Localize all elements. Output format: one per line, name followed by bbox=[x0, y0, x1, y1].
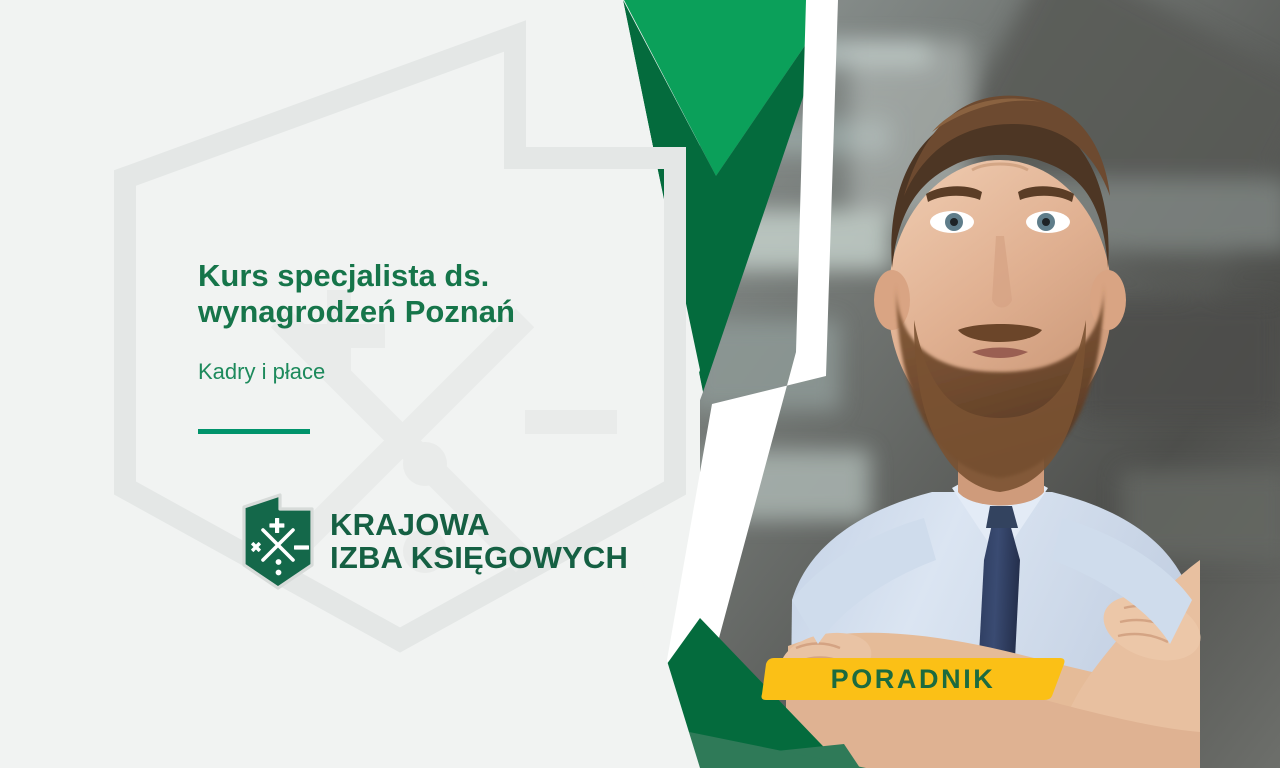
status-badge: PORADNIK bbox=[760, 654, 1066, 704]
logo-wordmark-display: KRAJOWA IZBA KSIĘGOWYCH bbox=[330, 509, 628, 573]
hero-photo bbox=[700, 0, 1280, 768]
page-title-display: Kurs specjalista ds. wynagrodzeń Poznań bbox=[198, 258, 628, 331]
logo-wordmark-line1-display: KRAJOWA bbox=[330, 509, 628, 541]
divider-rule-display bbox=[198, 429, 310, 434]
badge-label: PORADNIK bbox=[760, 654, 1066, 704]
shield-math-symbols-icon-display bbox=[240, 493, 316, 590]
businessman-photo bbox=[700, 0, 1280, 768]
brand-logo-display: KRAJOWA IZBA KSIĘGOWYCH bbox=[240, 493, 628, 590]
logo-wordmark-line2-display: IZBA KSIĘGOWYCH bbox=[330, 542, 628, 574]
text-block-top: Kurs specjalista ds. wynagrodzeń Poznań … bbox=[198, 258, 628, 434]
promo-banner: Kurs specjalista ds. wynagrodzeń Poznań … bbox=[0, 0, 1280, 768]
course-category-display: Kadry i płace bbox=[198, 331, 628, 385]
